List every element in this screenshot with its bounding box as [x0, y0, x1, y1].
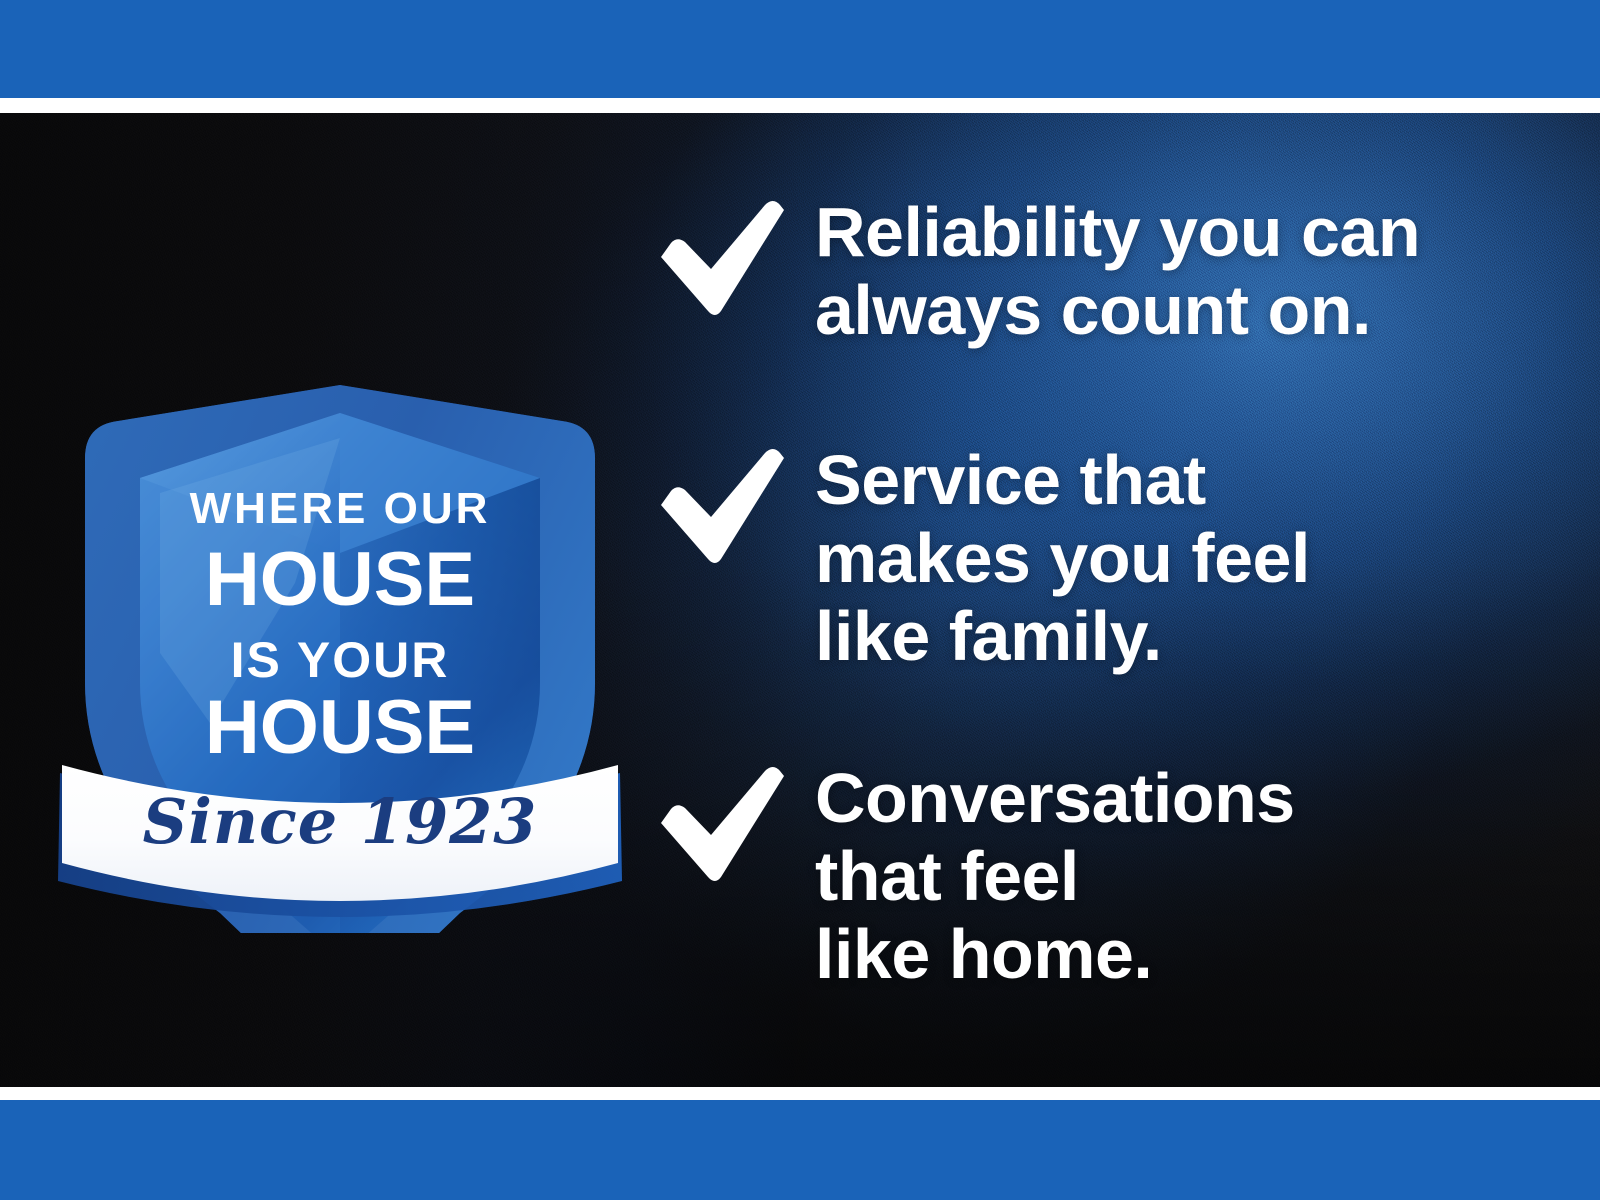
bottom-brand-bar	[0, 1100, 1600, 1200]
benefit-item-service: Service that makes you feel like family.	[655, 441, 1555, 675]
checkmark-icon	[655, 193, 815, 317]
benefits-list: Reliability you can always count on. Ser…	[655, 193, 1555, 993]
emblem-line-3: IS YOUR	[231, 632, 450, 688]
emblem-line-2: HOUSE	[205, 537, 475, 622]
top-brand-bar	[0, 0, 1600, 98]
ribbon-since-text: Since 1923	[143, 785, 538, 858]
benefit-text: Reliability you can always count on.	[815, 193, 1420, 349]
emblem-line-4: HOUSE	[205, 685, 475, 770]
poster-canvas: WHERE OUR HOUSE IS YOUR HOUSE Since 1923	[0, 113, 1600, 1087]
benefit-item-reliability: Reliability you can always count on.	[655, 193, 1555, 349]
promo-poster: WHERE OUR HOUSE IS YOUR HOUSE Since 1923	[0, 0, 1600, 1200]
benefit-text: Service that makes you feel like family.	[815, 441, 1310, 675]
checkmark-icon	[655, 441, 815, 565]
checkmark-icon	[655, 759, 815, 883]
benefit-text: Conversations that feel like home.	[815, 759, 1295, 993]
benefit-item-conversations: Conversations that feel like home.	[655, 759, 1555, 993]
emblem-line-1: WHERE OUR	[190, 484, 491, 533]
shield-emblem: WHERE OUR HOUSE IS YOUR HOUSE Since 1923	[40, 253, 640, 933]
